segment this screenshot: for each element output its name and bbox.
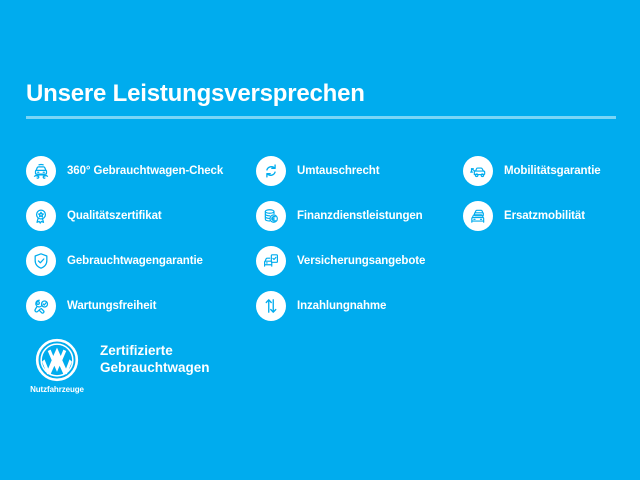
feature-item[interactable]: Versicherungsangebote xyxy=(256,238,463,283)
feature-grid: 360° Gebrauchtwagen-Check Qualitätszerti… xyxy=(0,148,640,328)
wrench-check-icon xyxy=(26,291,56,321)
coins-euro-icon xyxy=(256,201,286,231)
up-down-arrows-icon xyxy=(256,291,286,321)
feature-item[interactable]: 360° Gebrauchtwagen-Check xyxy=(26,148,256,193)
feature-label: 360° Gebrauchtwagen-Check xyxy=(67,164,223,178)
feature-item[interactable]: Wartungsfreiheit xyxy=(26,283,256,328)
two-cars-icon xyxy=(463,201,493,231)
brand-sub-label: Nutzfahrzeuge xyxy=(30,385,84,394)
feature-item[interactable]: Finanzdienstleistungen xyxy=(256,193,463,238)
brand-block: Nutzfahrzeuge Zertifizierte Gebrauchtwag… xyxy=(26,338,210,394)
feature-label: Wartungsfreiheit xyxy=(67,299,156,313)
feature-item[interactable]: Ersatzmobilität xyxy=(463,193,638,238)
exchange-arrows-icon xyxy=(256,156,286,186)
feature-column-1: 360° Gebrauchtwagen-Check Qualitätszerti… xyxy=(26,148,256,328)
feature-column-2: Umtauschrecht Finanz xyxy=(256,148,463,328)
feature-label: Umtauschrecht xyxy=(297,164,379,178)
brand-tagline-line2: Gebrauchtwagen xyxy=(100,359,210,376)
car-document-check-icon xyxy=(256,246,286,276)
feature-item[interactable]: Gebrauchtwagengarantie xyxy=(26,238,256,283)
tow-truck-icon xyxy=(463,156,493,186)
title-block: Unsere Leistungsversprechen xyxy=(26,80,616,119)
feature-item[interactable]: Inzahlungnahme xyxy=(256,283,463,328)
feature-item[interactable]: Qualitätszertifikat xyxy=(26,193,256,238)
feature-label: Inzahlungnahme xyxy=(297,299,386,313)
slide-root: Unsere Leistungsversprechen xyxy=(0,0,640,480)
quality-seal-icon xyxy=(26,201,56,231)
title-divider xyxy=(26,116,616,119)
volkswagen-logo-icon xyxy=(35,338,79,382)
page-title: Unsere Leistungsversprechen xyxy=(26,80,616,108)
feature-label: Mobilitätsgarantie xyxy=(504,164,601,178)
feature-column-3: Mobilitätsgarantie Ersatzmobilitä xyxy=(463,148,638,238)
feature-label: Ersatzmobilität xyxy=(504,209,585,223)
feature-label: Versicherungsangebote xyxy=(297,254,425,268)
feature-label: Finanzdienstleistungen xyxy=(297,209,423,223)
shield-check-icon xyxy=(26,246,56,276)
feature-label: Qualitätszertifikat xyxy=(67,209,162,223)
brand-tagline: Zertifizierte Gebrauchtwagen xyxy=(100,342,210,376)
feature-label: Gebrauchtwagengarantie xyxy=(67,254,203,268)
feature-item[interactable]: Umtauschrecht xyxy=(256,148,463,193)
car-check-360-icon xyxy=(26,156,56,186)
brand-mark: Nutzfahrzeuge xyxy=(26,338,88,394)
feature-item[interactable]: Mobilitätsgarantie xyxy=(463,148,638,193)
brand-tagline-line1: Zertifizierte xyxy=(100,342,210,359)
